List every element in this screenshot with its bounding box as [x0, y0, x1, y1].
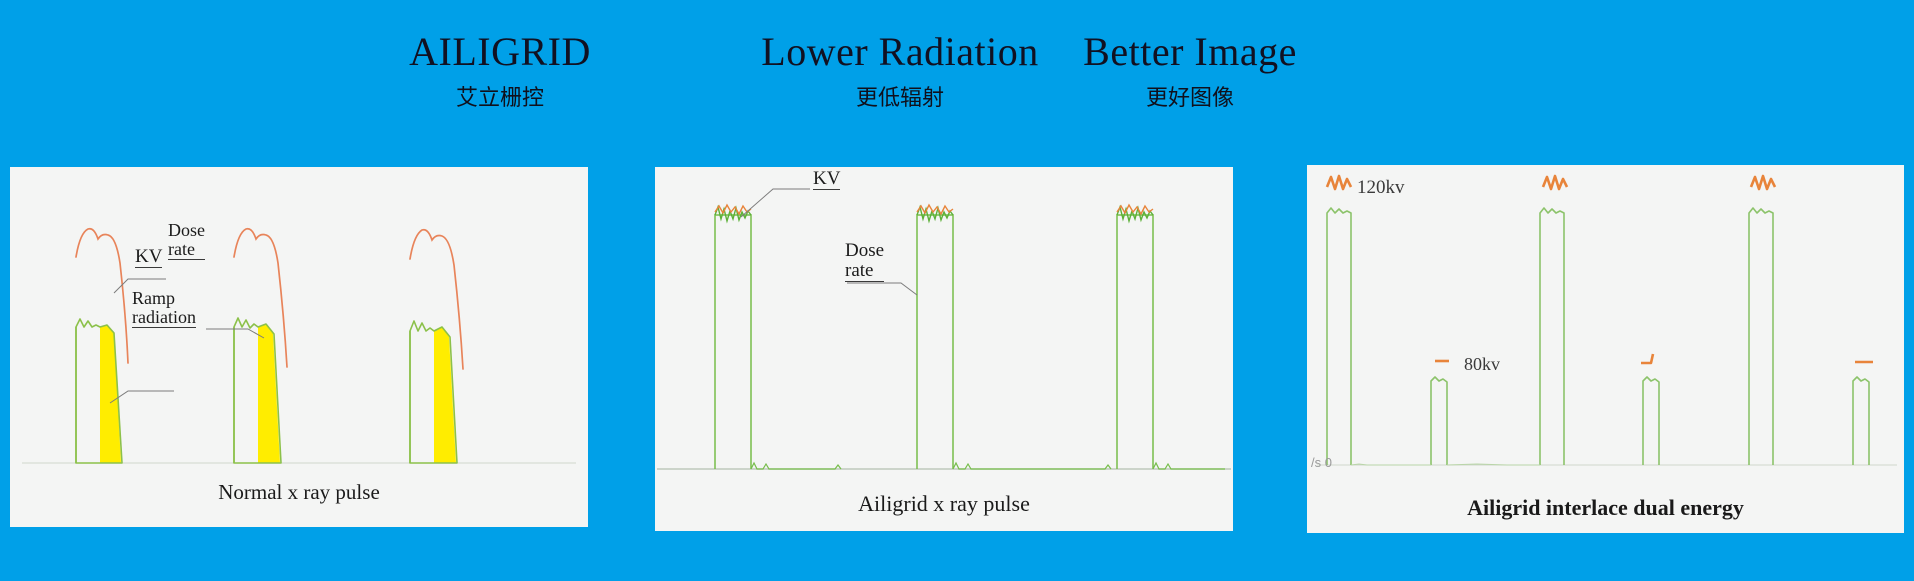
legend-label-120kv: 120kv	[1357, 177, 1405, 199]
axis-tick-label: /s 0	[1311, 455, 1332, 470]
header-column-better-image: Better Image 更好图像	[870, 32, 1510, 110]
header-title-en-2: Better Image	[870, 32, 1510, 72]
annotation-dose-rate-normal: Dose rate	[168, 221, 205, 260]
chart-panel-normal-x-ray-pulse: KV Dose rate Ramp radiation Normal x ray…	[10, 167, 588, 527]
chart-panel-ailigrid-interlace-dual-energy: 120kv 80kv /s 0 Ailigrid interlace dual …	[1307, 165, 1904, 533]
annotation-kv-ailigrid: KV	[813, 169, 840, 190]
annotation-ramp-radiation-normal: Ramp radiation	[132, 289, 196, 328]
caption-ailigrid-interlace-dual-energy: Ailigrid interlace dual energy	[1307, 495, 1904, 521]
annotation-dose-rate-ailigrid: Dose rate	[845, 241, 884, 282]
legend-label-80kv: 80kv	[1464, 354, 1500, 375]
chart-plot-dual-energy	[1307, 165, 1904, 533]
chart-plot-normal	[10, 167, 588, 527]
slide-root: { "background_color": "#00a0e8", "header…	[0, 0, 1914, 581]
caption-normal-x-ray-pulse: Normal x ray pulse	[10, 480, 588, 505]
annotation-kv-normal: KV	[135, 247, 162, 268]
chart-panel-ailigrid-x-ray-pulse: KV Dose rate Ailigrid x ray pulse	[655, 167, 1233, 531]
caption-ailigrid-x-ray-pulse: Ailigrid x ray pulse	[655, 491, 1233, 517]
header-title-cn-2: 更好图像	[870, 88, 1510, 110]
chart-plot-ailigrid	[655, 167, 1233, 531]
header: AILIGRID 艾立栅控 Lower Radiation 更低辐射 Bette…	[0, 0, 1914, 140]
